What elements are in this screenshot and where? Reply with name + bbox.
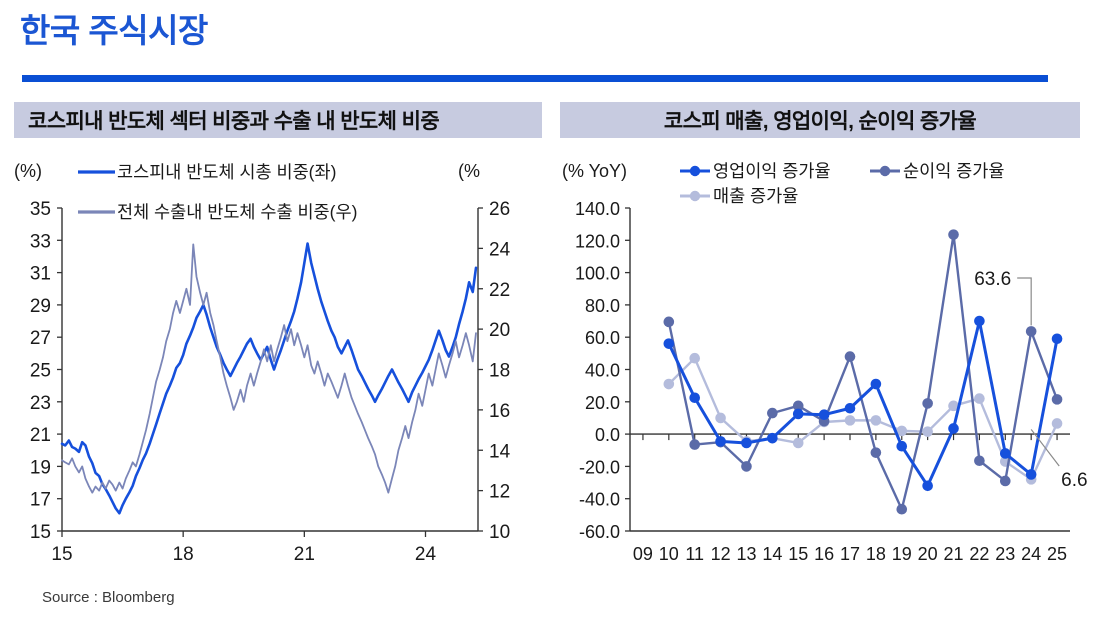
series-marker-0: [845, 403, 856, 414]
y-tick-label: -40.0: [579, 490, 620, 510]
y-tick-label: 40.0: [585, 361, 620, 381]
series-marker-0: [715, 436, 726, 447]
x-tick-label: 25: [1047, 544, 1067, 564]
x-tick-label: 21: [944, 544, 964, 564]
panel-header-right: 코스피 매출, 영업이익, 순이익 증가율: [560, 102, 1080, 138]
y2-tick-label: 14: [489, 441, 511, 462]
y-axis-unit-label: (% YoY): [562, 161, 627, 181]
right-chart-root: (% YoY)영업이익 증가율순이익 증가율매출 증가율-60.0-40.0-2…: [562, 161, 1088, 564]
y-tick-label: 140.0: [575, 199, 620, 219]
y2-tick-label: 24: [489, 239, 511, 260]
y-tick-label: 19: [30, 457, 51, 478]
y-tick-label: 21: [30, 425, 51, 446]
y2-tick-label: 26: [489, 199, 510, 220]
source-note: Source : Bloomberg: [42, 589, 175, 606]
x-tick-label: 23: [995, 544, 1015, 564]
annotation-leader-63: [1017, 278, 1031, 325]
series-marker-1: [896, 504, 907, 515]
series-marker-0: [896, 441, 907, 452]
x-tick-label: 24: [415, 544, 437, 565]
series-marker-1: [871, 447, 882, 458]
x-tick-label: 24: [1021, 544, 1041, 564]
y-tick-label: 17: [30, 490, 51, 511]
page-title: 한국 주식시장: [20, 8, 208, 54]
y-tick-label: 100.0: [575, 264, 620, 284]
series-marker-0: [767, 433, 778, 444]
y-tick-label: 120.0: [575, 231, 620, 251]
series-marker-0: [819, 409, 830, 420]
y-tick-label: 80.0: [585, 296, 620, 316]
legend-label-1: 전체 수출내 반도체 수출 비중(우): [117, 202, 357, 222]
series-marker-1: [974, 455, 985, 466]
left-axis-unit-label: (%): [14, 161, 42, 181]
y-tick-label: 23: [30, 393, 51, 414]
y-tick-label: 25: [30, 361, 51, 382]
left-chart-root: (%)(%코스피내 반도체 시총 비중(좌)전체 수출내 반도체 수출 비중(우…: [14, 161, 511, 565]
x-tick-label: 21: [294, 544, 315, 565]
annotation-label-66: 6.6: [1061, 470, 1087, 491]
x-tick-label: 14: [762, 544, 782, 564]
x-tick-label: 18: [866, 544, 886, 564]
legend-marker-0: [690, 166, 700, 176]
series-marker-1: [948, 229, 959, 240]
right-chart-legend: 영업이익 증가율순이익 증가율매출 증가율: [680, 161, 1004, 206]
y-tick-label: 31: [30, 264, 51, 285]
series-marker-0: [1026, 469, 1037, 480]
series-marker-1: [922, 398, 933, 409]
x-tick-label: 16: [814, 544, 834, 564]
x-tick-label: 15: [51, 544, 72, 565]
panel-header-left-label: 코스피내 반도체 섹터 비중과 수출 내 반도체 비중: [14, 105, 542, 135]
series-marker-0: [922, 480, 933, 491]
series-marker-1: [741, 461, 752, 472]
legend-marker-1: [880, 166, 890, 176]
series-marker-0: [793, 409, 804, 420]
series-marker-2: [1052, 418, 1063, 429]
legend-label-0: 영업이익 증가율: [713, 161, 831, 181]
series-marker-2: [974, 393, 985, 404]
series-marker-2: [689, 353, 700, 364]
x-tick-label: 11: [685, 544, 704, 564]
y-tick-label: -60.0: [579, 522, 620, 542]
series-marker-2: [845, 415, 856, 426]
series-marker-1: [845, 351, 856, 362]
y2-tick-label: 16: [489, 401, 510, 422]
series-marker-2: [922, 426, 933, 437]
x-tick-label: 20: [918, 544, 938, 564]
x-tick-label: 19: [892, 544, 912, 564]
series-marker-0: [871, 379, 882, 390]
chart-panel-left: (%)(%코스피내 반도체 시총 비중(좌)전체 수출내 반도체 수출 비중(우…: [0, 150, 550, 590]
y-tick-label: 33: [30, 231, 51, 252]
series-marker-1: [1052, 394, 1063, 405]
series-marker-2: [715, 413, 726, 424]
legend-label-2: 매출 증가율: [713, 186, 798, 206]
series-marker-0: [974, 316, 985, 327]
y-tick-label: -20.0: [579, 457, 620, 477]
title-divider-rule: [22, 75, 1048, 82]
series-marker-2: [793, 438, 804, 449]
semiconductor-weight-line-chart: (%)(%코스피내 반도체 시총 비중(좌)전체 수출내 반도체 수출 비중(우…: [0, 150, 550, 590]
y2-tick-label: 18: [489, 361, 510, 382]
annotation-label-63: 63.6: [974, 269, 1011, 290]
kospi-growth-line-chart: (% YoY)영업이익 증가율순이익 증가율매출 증가율-60.0-40.0-2…: [548, 150, 1094, 590]
y2-tick-label: 12: [489, 482, 510, 503]
legend-label-0: 코스피내 반도체 시총 비중(좌): [117, 162, 336, 182]
x-tick-label: 12: [711, 544, 731, 564]
left-chart-legend: 코스피내 반도체 시총 비중(좌)전체 수출내 반도체 수출 비중(우): [78, 162, 357, 222]
x-tick-label: 17: [840, 544, 860, 564]
right-axis-unit-label: (%: [458, 161, 480, 181]
y-tick-label: 20.0: [585, 393, 620, 413]
y2-tick-label: 22: [489, 280, 510, 301]
x-tick-label: 09: [633, 544, 653, 564]
series-marker-0: [948, 423, 959, 434]
series-marker-0: [689, 392, 700, 403]
y-tick-label: 27: [30, 328, 51, 349]
series-marker-1: [689, 439, 700, 450]
y-tick-label: 0.0: [595, 425, 620, 445]
series-marker-0: [664, 338, 675, 349]
series-marker-1: [767, 408, 778, 419]
series-marker-1: [1000, 476, 1011, 487]
series-line-0: [62, 244, 476, 514]
y-tick-label: 60.0: [585, 328, 620, 348]
series-marker-0: [1052, 334, 1063, 345]
legend-marker-2: [690, 191, 700, 201]
legend-label-1: 순이익 증가율: [903, 161, 1004, 181]
x-tick-label: 13: [736, 544, 756, 564]
y2-tick-label: 10: [489, 522, 510, 543]
y-tick-label: 29: [30, 296, 51, 317]
panel-header-right-label: 코스피 매출, 영업이익, 순이익 증가율: [560, 105, 1080, 135]
series-line-1: [62, 244, 476, 492]
y-tick-label: 35: [30, 199, 51, 220]
series-marker-0: [1000, 448, 1011, 459]
x-tick-label: 22: [969, 544, 989, 564]
series-marker-2: [664, 379, 675, 390]
panel-header-left: 코스피내 반도체 섹터 비중과 수출 내 반도체 비중: [14, 102, 542, 138]
series-marker-1: [664, 317, 675, 328]
x-tick-label: 15: [788, 544, 808, 564]
y-tick-label: 15: [30, 522, 51, 543]
x-tick-label: 18: [173, 544, 194, 565]
x-tick-label: 10: [659, 544, 679, 564]
series-marker-2: [871, 415, 882, 426]
series-marker-0: [741, 438, 752, 449]
chart-panel-right: (% YoY)영업이익 증가율순이익 증가율매출 증가율-60.0-40.0-2…: [548, 150, 1094, 590]
y2-tick-label: 20: [489, 320, 510, 341]
series-marker-1: [1026, 326, 1037, 337]
